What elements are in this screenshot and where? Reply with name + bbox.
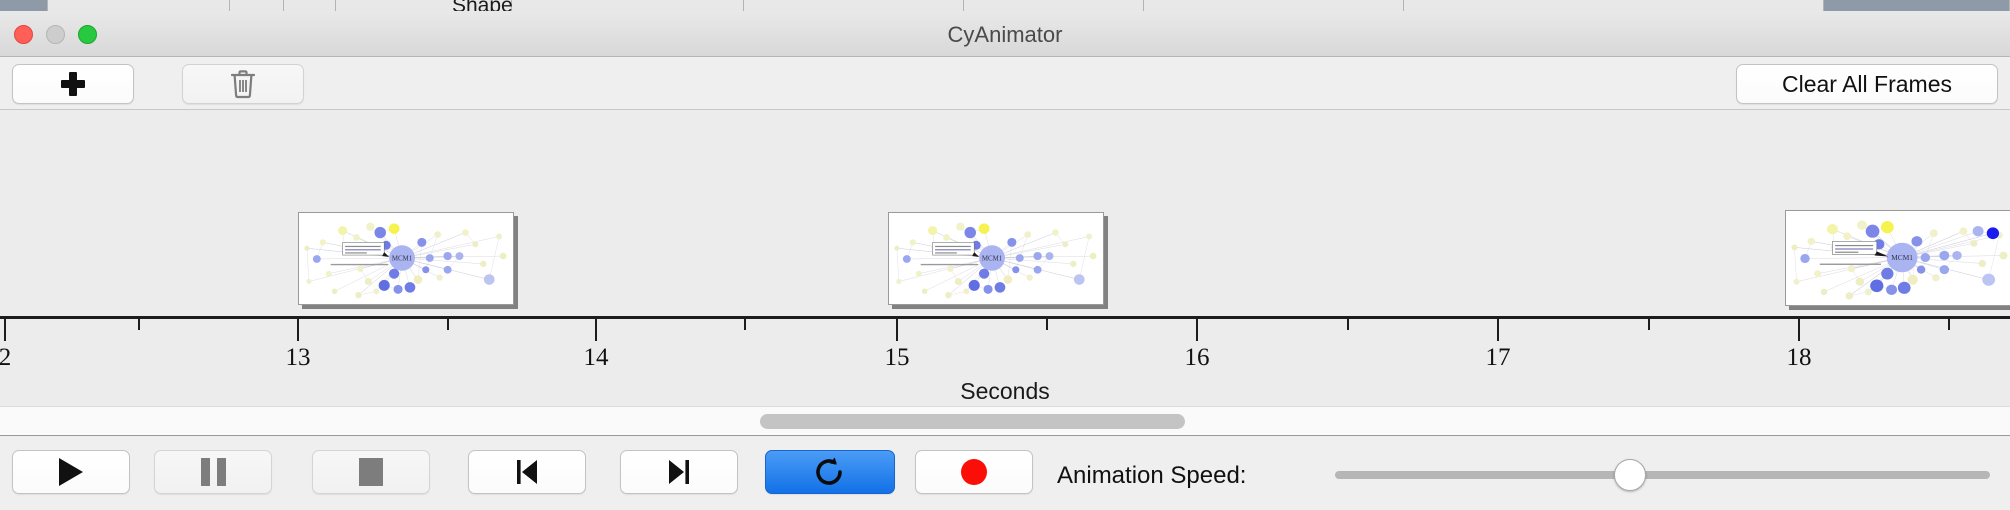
- toolbar: Clear All Frames: [0, 57, 2010, 110]
- timeline-scrollbar[interactable]: [0, 406, 2010, 436]
- axis-tick: [595, 319, 597, 341]
- bg-chip: [230, 0, 284, 11]
- bg-chip: [0, 0, 48, 11]
- animation-speed-slider[interactable]: [1335, 471, 1990, 479]
- timeline-panel[interactable]: MCM1MCM1MCM1 2131415161718 Seconds: [0, 110, 2010, 406]
- stop-button[interactable]: [312, 450, 430, 494]
- play-icon: [59, 458, 83, 486]
- axis-tick-label: 15: [885, 344, 910, 372]
- clear-all-frames-button[interactable]: Clear All Frames: [1736, 64, 1998, 104]
- bg-chip: [964, 0, 1144, 11]
- animation-speed-label: Animation Speed:: [1057, 462, 1246, 490]
- axis-tick-label: 16: [1185, 344, 1210, 372]
- skip-previous-button[interactable]: [468, 450, 586, 494]
- axis-tick: [4, 319, 6, 341]
- axis-tick-label: 2: [0, 344, 11, 372]
- slider-thumb[interactable]: [1614, 459, 1646, 491]
- axis-tick: [447, 319, 449, 330]
- axis-line: [0, 316, 2010, 319]
- cyanimator-window: Shape CyAnimator Clear All Frames MC: [0, 0, 2010, 510]
- loop-button[interactable]: [765, 450, 895, 494]
- axis-tick: [1046, 319, 1048, 330]
- record-button[interactable]: [915, 450, 1033, 494]
- axis-title: Seconds: [0, 378, 2010, 405]
- pause-button[interactable]: [154, 450, 272, 494]
- bg-chip: [48, 0, 230, 11]
- add-frame-button[interactable]: [12, 64, 134, 104]
- axis-tick: [1948, 319, 1950, 330]
- bg-chip: [1404, 0, 1824, 11]
- axis-tick-label: 14: [584, 344, 609, 372]
- clear-all-frames-label: Clear All Frames: [1782, 71, 1952, 98]
- window-title: CyAnimator: [0, 22, 2010, 48]
- axis-tick: [744, 319, 746, 330]
- axis-tick: [1648, 319, 1650, 330]
- record-icon: [961, 459, 987, 485]
- axis-tick: [1497, 319, 1499, 341]
- title-bar: CyAnimator: [0, 11, 2010, 57]
- transport-bar: Animation Speed:: [0, 437, 2010, 510]
- keyframe-thumbnail[interactable]: MCM1: [888, 212, 1104, 305]
- timeline-axis: 2131415161718 Seconds: [0, 316, 2010, 406]
- axis-tick: [1798, 319, 1800, 341]
- axis-tick: [297, 319, 299, 341]
- delete-frame-button[interactable]: [182, 64, 304, 104]
- bg-chip: [1824, 0, 2010, 11]
- keyframe-thumbnail[interactable]: MCM1: [298, 212, 514, 305]
- axis-tick: [1347, 319, 1349, 330]
- slider-track: [1335, 471, 1990, 479]
- axis-tick-label: 13: [286, 344, 311, 372]
- skip-previous-icon: [511, 457, 543, 487]
- scrollbar-thumb[interactable]: [760, 414, 1185, 429]
- loop-icon: [813, 456, 847, 488]
- skip-next-button[interactable]: [620, 450, 738, 494]
- plus-icon: [60, 71, 86, 97]
- trash-icon: [230, 69, 256, 99]
- bg-chip: [744, 0, 964, 11]
- background-window-strip: Shape: [0, 0, 2010, 11]
- skip-next-icon: [663, 457, 695, 487]
- stop-icon: [359, 458, 383, 486]
- svg-text:MCM1: MCM1: [392, 256, 413, 263]
- bg-chip: [512, 0, 744, 11]
- play-button[interactable]: [12, 450, 130, 494]
- pause-icon: [201, 458, 226, 486]
- bg-chip: [1144, 0, 1404, 11]
- background-window-label: Shape: [452, 0, 513, 11]
- svg-text:MCM1: MCM1: [982, 256, 1003, 263]
- axis-tick: [138, 319, 140, 330]
- axis-tick-label: 18: [1787, 344, 1812, 372]
- axis-tick: [896, 319, 898, 341]
- bg-chip: [284, 0, 336, 11]
- axis-tick-label: 17: [1486, 344, 1511, 372]
- axis-tick: [1196, 319, 1198, 341]
- keyframe-thumbnail[interactable]: MCM1: [1785, 210, 2010, 306]
- svg-text:MCM1: MCM1: [1891, 254, 1913, 262]
